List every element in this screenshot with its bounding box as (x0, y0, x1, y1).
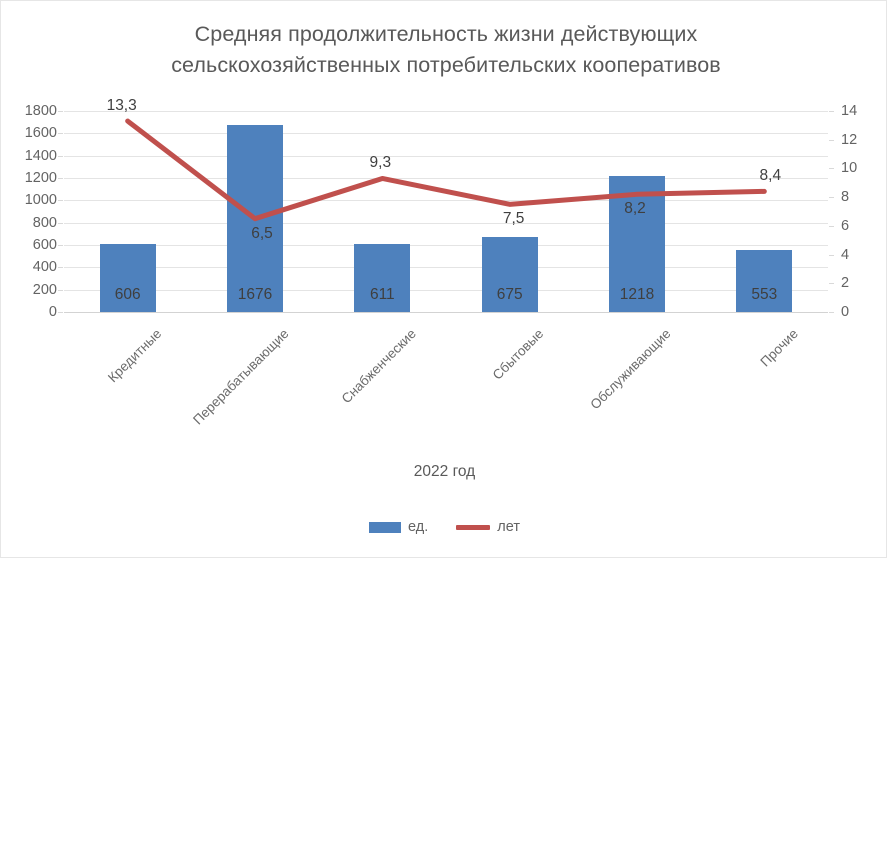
y-axis-left-tick-label: 0 (49, 304, 57, 320)
y-axis-left-tick-label: 200 (33, 282, 57, 298)
legend-swatch-line-icon (456, 525, 490, 530)
legend-item-bar[interactable]: ед. (369, 519, 428, 535)
x-axis-tick-label: Прочие (277, 326, 801, 850)
y-axis-right-tick-mark (829, 111, 834, 112)
y-axis-left-tick-label: 1200 (25, 170, 57, 186)
line-value-label: 7,5 (503, 210, 525, 228)
y-axis-right-tick-label: 6 (841, 218, 849, 234)
x-axis-tick-label: Обслуживающие (239, 326, 673, 760)
y-axis-left-tick-mark (58, 312, 63, 313)
gridline (64, 312, 828, 313)
y-axis-right-tick-mark (829, 283, 834, 284)
y-axis-right-tick-mark (829, 197, 834, 198)
line-value-label: 6,5 (251, 225, 273, 243)
y-axis-left-tick-mark (58, 290, 63, 291)
legend-label-line: лет (497, 519, 520, 535)
chart-title-line-2: сельскохозяйственных потребительских коо… (61, 50, 831, 81)
y-axis-left-tick-label: 800 (33, 215, 57, 231)
y-axis-left-tick-label: 1800 (25, 103, 57, 119)
y-axis-left-tick-mark (58, 111, 63, 112)
y-axis-left-tick-label: 400 (33, 259, 57, 275)
chart-title: Средняя продолжительность жизни действую… (61, 19, 831, 81)
line-value-label: 9,3 (370, 154, 392, 172)
legend-swatch-bar-icon (369, 522, 401, 533)
x-axis-title: 2022 год (1, 463, 888, 481)
y-axis-right-tick-mark (829, 312, 834, 313)
line-value-label: 8,4 (760, 167, 782, 185)
chart-container: Средняя продолжительность жизни действую… (0, 0, 887, 558)
y-axis-right-tick-label: 2 (841, 275, 849, 291)
y-axis-right-tick-mark (829, 226, 834, 227)
line-path[interactable] (128, 121, 765, 219)
line-series (64, 111, 828, 312)
y-axis-left-tick-mark (58, 245, 63, 246)
x-axis-tick-label: Снабженческие (165, 326, 419, 580)
y-axis-right-tick-label: 0 (841, 304, 849, 320)
y-axis-left-tick-mark (58, 156, 63, 157)
legend-item-line[interactable]: лет (456, 519, 520, 535)
y-axis-left-tick-mark (58, 223, 63, 224)
chart-title-line-1: Средняя продолжительность жизни действую… (61, 19, 831, 50)
x-axis-tick-label: Кредитные (90, 326, 164, 400)
legend-label-bar: ед. (408, 519, 428, 535)
y-axis-right-tick-mark (829, 168, 834, 169)
y-axis-left-tick-label: 1400 (25, 148, 57, 164)
line-value-label: 8,2 (624, 200, 646, 218)
y-axis-right-tick-label: 12 (841, 132, 857, 148)
y-axis-left-tick-mark (58, 200, 63, 201)
y-axis-right-tick-label: 4 (841, 247, 849, 263)
plot-area: 6061676611675121855313,36,59,37,58,28,4 (64, 111, 828, 312)
y-axis-left-tick-mark (58, 178, 63, 179)
line-value-label: 13,3 (107, 97, 137, 115)
y-axis-right-tick-label: 14 (841, 103, 857, 119)
y-axis-left-tick-label: 1000 (25, 192, 57, 208)
y-axis-right-tick-mark (829, 255, 834, 256)
y-axis-right-tick-label: 8 (841, 189, 849, 205)
y-axis-left-tick-label: 1600 (25, 125, 57, 141)
y-axis-left-tick-mark (58, 267, 63, 268)
y-axis-left-tick-mark (58, 133, 63, 134)
y-axis-left-tick-label: 600 (33, 237, 57, 253)
chart-legend: ед. лет (1, 519, 888, 535)
y-axis-right-tick-mark (829, 140, 834, 141)
y-axis-right-tick-label: 10 (841, 160, 857, 176)
